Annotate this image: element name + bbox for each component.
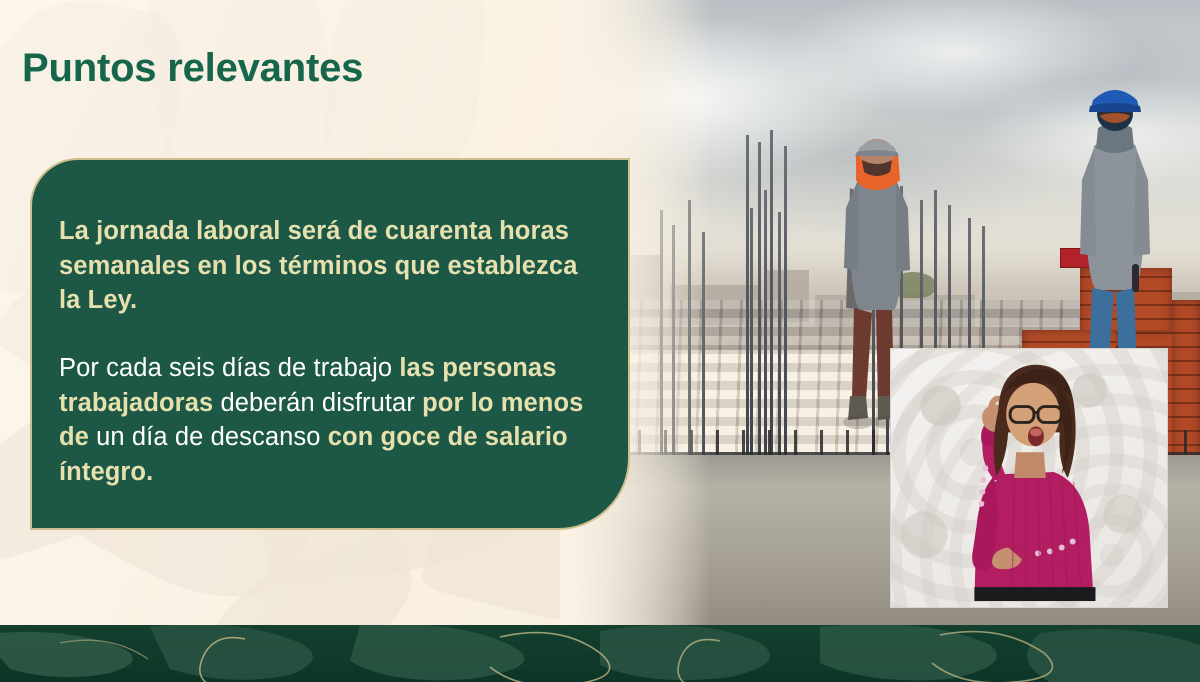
sign-language-interpreter-inset [890, 348, 1168, 608]
card-paragraph-1: La jornada laboral será de cuarenta hora… [59, 214, 588, 318]
page-title: Puntos relevantes [22, 46, 363, 91]
interpreter-person [891, 349, 1167, 607]
card-paragraph-2: Por cada seis días de trabajo las person… [59, 351, 588, 490]
text-run: un día de descanso [89, 423, 328, 451]
text-run: Por cada seis días de trabajo [59, 354, 399, 382]
band-pattern [0, 625, 1200, 682]
presentation-slide: Puntos relevantes La jornada laboral ser… [0, 0, 1200, 682]
text-run: deberán disfrutar [213, 389, 422, 417]
highlight-card: La jornada laboral será de cuarenta hora… [30, 158, 630, 530]
bottom-decorative-band [0, 625, 1200, 682]
